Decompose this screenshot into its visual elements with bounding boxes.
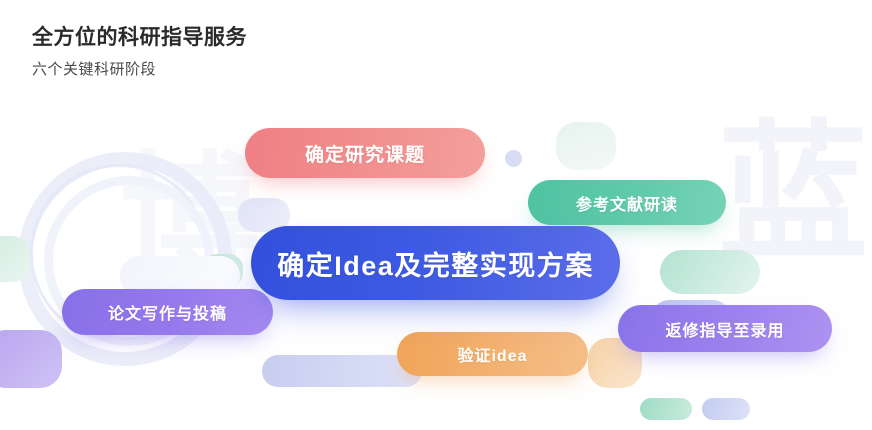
decorative-blob-purple-bottomleft (0, 330, 62, 388)
stage-pill-writing[interactable]: 论文写作与投稿 (62, 289, 273, 335)
page-title: 全方位的科研指导服务 (32, 24, 247, 51)
stage-pill-verify[interactable]: 验证idea (397, 332, 588, 376)
stage-pill-core-idea[interactable]: 确定Idea及完整实现方案 (251, 226, 620, 300)
page-subtitle: 六个关键科研阶段 (32, 60, 247, 80)
ghost-pill-green-mid (660, 250, 760, 294)
watermark-text-right: 蓝 (718, 118, 872, 268)
ghost-pill-green-right (640, 398, 692, 420)
decorative-blob-lavender-dot (505, 150, 522, 167)
stage-pill-topic[interactable]: 确定研究课题 (245, 128, 485, 178)
header-block: 全方位的科研指导服务 六个关键科研阶段 (32, 24, 247, 80)
stage-pill-literature[interactable]: 参考文献研读 (528, 180, 726, 225)
decorative-blob-green-left (0, 236, 30, 282)
ghost-pill-lavender-right (702, 398, 750, 420)
infographic-canvas: 博 蓝 全方位的科研指导服务 六个关键科研阶段 确定研究课题 参考文献研读 确定… (0, 0, 872, 430)
stage-pill-revision[interactable]: 返修指导至录用 (618, 305, 832, 352)
decorative-blob-green-top (556, 122, 616, 170)
